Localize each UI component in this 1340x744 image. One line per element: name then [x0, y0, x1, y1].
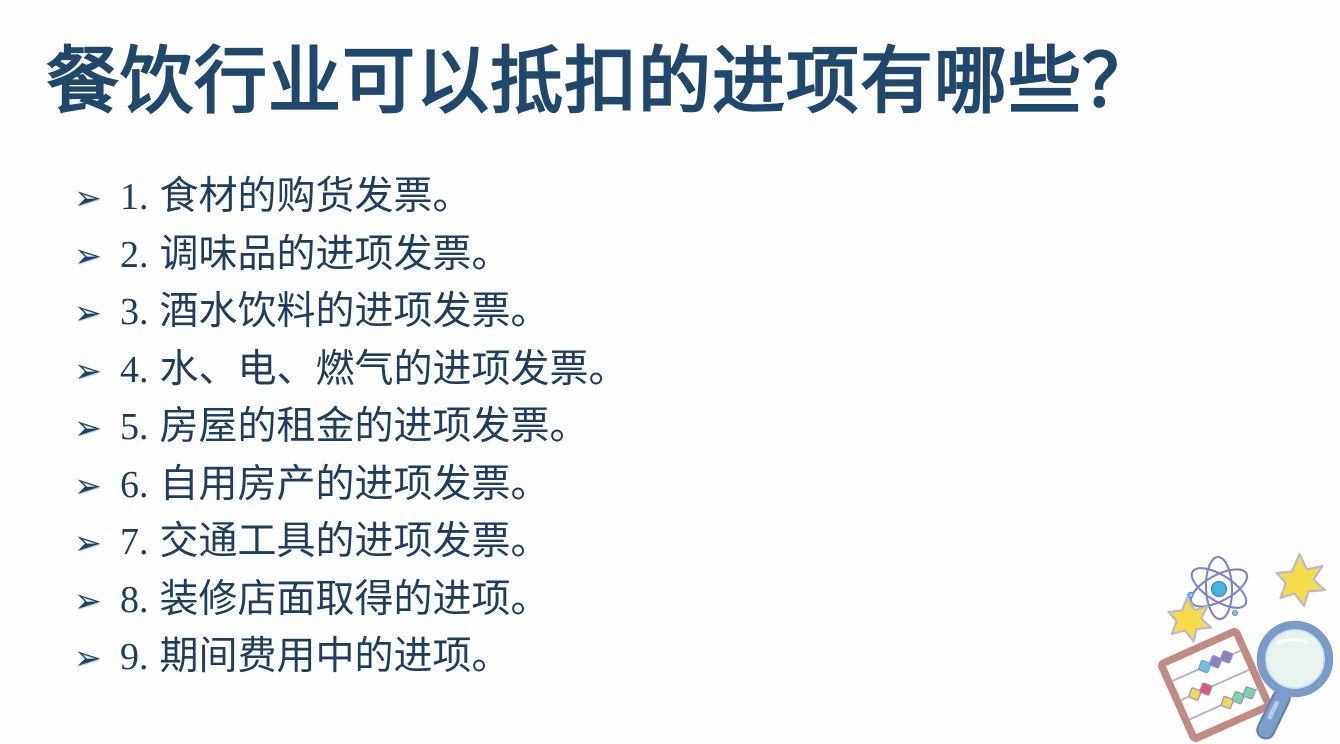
abacus-icon	[1161, 631, 1269, 739]
list-item-label: 期间费用中的进项。	[160, 628, 511, 686]
list-item-label: 食材的购货发票。	[160, 168, 472, 226]
list-item-number: 6.	[120, 457, 160, 515]
abacus-bead	[1220, 650, 1233, 663]
page-title: 餐饮行业可以抵扣的进项有哪些？	[46, 34, 1246, 130]
list-item-number: 7.	[120, 514, 160, 572]
arrow-bullet-icon: ➢	[74, 227, 120, 285]
list-item-label: 房屋的租金的进项发票。	[160, 398, 589, 456]
list-item: ➢ 1. 食材的购货发票。	[74, 168, 1114, 226]
abacus-bead	[1188, 687, 1201, 700]
list-item: ➢ 5. 房屋的租金的进项发票。	[74, 398, 1114, 456]
list-item-label: 装修店面取得的进项。	[160, 571, 550, 629]
arrow-bullet-icon: ➢	[74, 284, 120, 342]
abacus-bead	[1243, 686, 1256, 699]
list-item-label: 调味品的进项发票。	[160, 226, 511, 284]
star-icon	[1169, 597, 1212, 642]
list-item: ➢ 8. 装修店面取得的进项。	[74, 571, 1114, 629]
slide-canvas: 餐饮行业可以抵扣的进项有哪些？ ➢ 1. 食材的购货发票。 ➢ 2. 调味品的进…	[0, 0, 1340, 744]
abacus-bead	[1209, 655, 1222, 668]
arrow-bullet-icon: ➢	[74, 572, 120, 630]
atom-nucleus	[1212, 582, 1227, 597]
list-item-number: 2.	[120, 227, 160, 285]
abacus-bead	[1232, 691, 1245, 704]
arrow-bullet-icon: ➢	[74, 629, 120, 687]
list-item: ➢ 7. 交通工具的进项发票。	[74, 513, 1114, 571]
list-item-label: 交通工具的进项发票。	[160, 513, 550, 571]
list-item: ➢ 6. 自用房产的进项发票。	[74, 456, 1114, 514]
list-item: ➢ 9. 期间费用中的进项。	[74, 628, 1114, 686]
abacus-bead	[1221, 696, 1234, 709]
list-item-number: 4.	[120, 342, 160, 400]
list-item: ➢ 3. 酒水饮料的进项发票。	[74, 283, 1114, 341]
arrow-bullet-icon: ➢	[74, 342, 120, 400]
list-item-label: 酒水饮料的进项发票。	[160, 283, 550, 341]
list-item-number: 8.	[120, 572, 160, 630]
bullet-list: ➢ 1. 食材的购货发票。 ➢ 2. 调味品的进项发票。 ➢ 3. 酒水饮料的进…	[74, 168, 1114, 686]
arrow-bullet-icon: ➢	[74, 169, 120, 227]
arrow-bullet-icon: ➢	[74, 457, 120, 515]
list-item-number: 3.	[120, 284, 160, 342]
arrow-bullet-icon: ➢	[74, 514, 120, 572]
star-icon	[1277, 554, 1326, 606]
list-item-label: 自用房产的进项发票。	[160, 456, 550, 514]
list-item-label: 水、电、燃气的进项发票。	[160, 341, 628, 399]
list-item: ➢ 2. 调味品的进项发票。	[74, 226, 1114, 284]
list-item: ➢ 4. 水、电、燃气的进项发票。	[74, 341, 1114, 399]
abacus-bead	[1199, 683, 1212, 696]
abacus-bead	[1198, 660, 1211, 673]
list-item-number: 9.	[120, 629, 160, 687]
research-tools-illustration	[1152, 548, 1340, 744]
list-item-number: 5.	[120, 399, 160, 457]
arrow-bullet-icon: ➢	[74, 399, 120, 457]
magnifying-glass-icon	[1254, 625, 1329, 741]
list-item-number: 1.	[120, 169, 160, 227]
atom-electron	[1233, 611, 1238, 616]
